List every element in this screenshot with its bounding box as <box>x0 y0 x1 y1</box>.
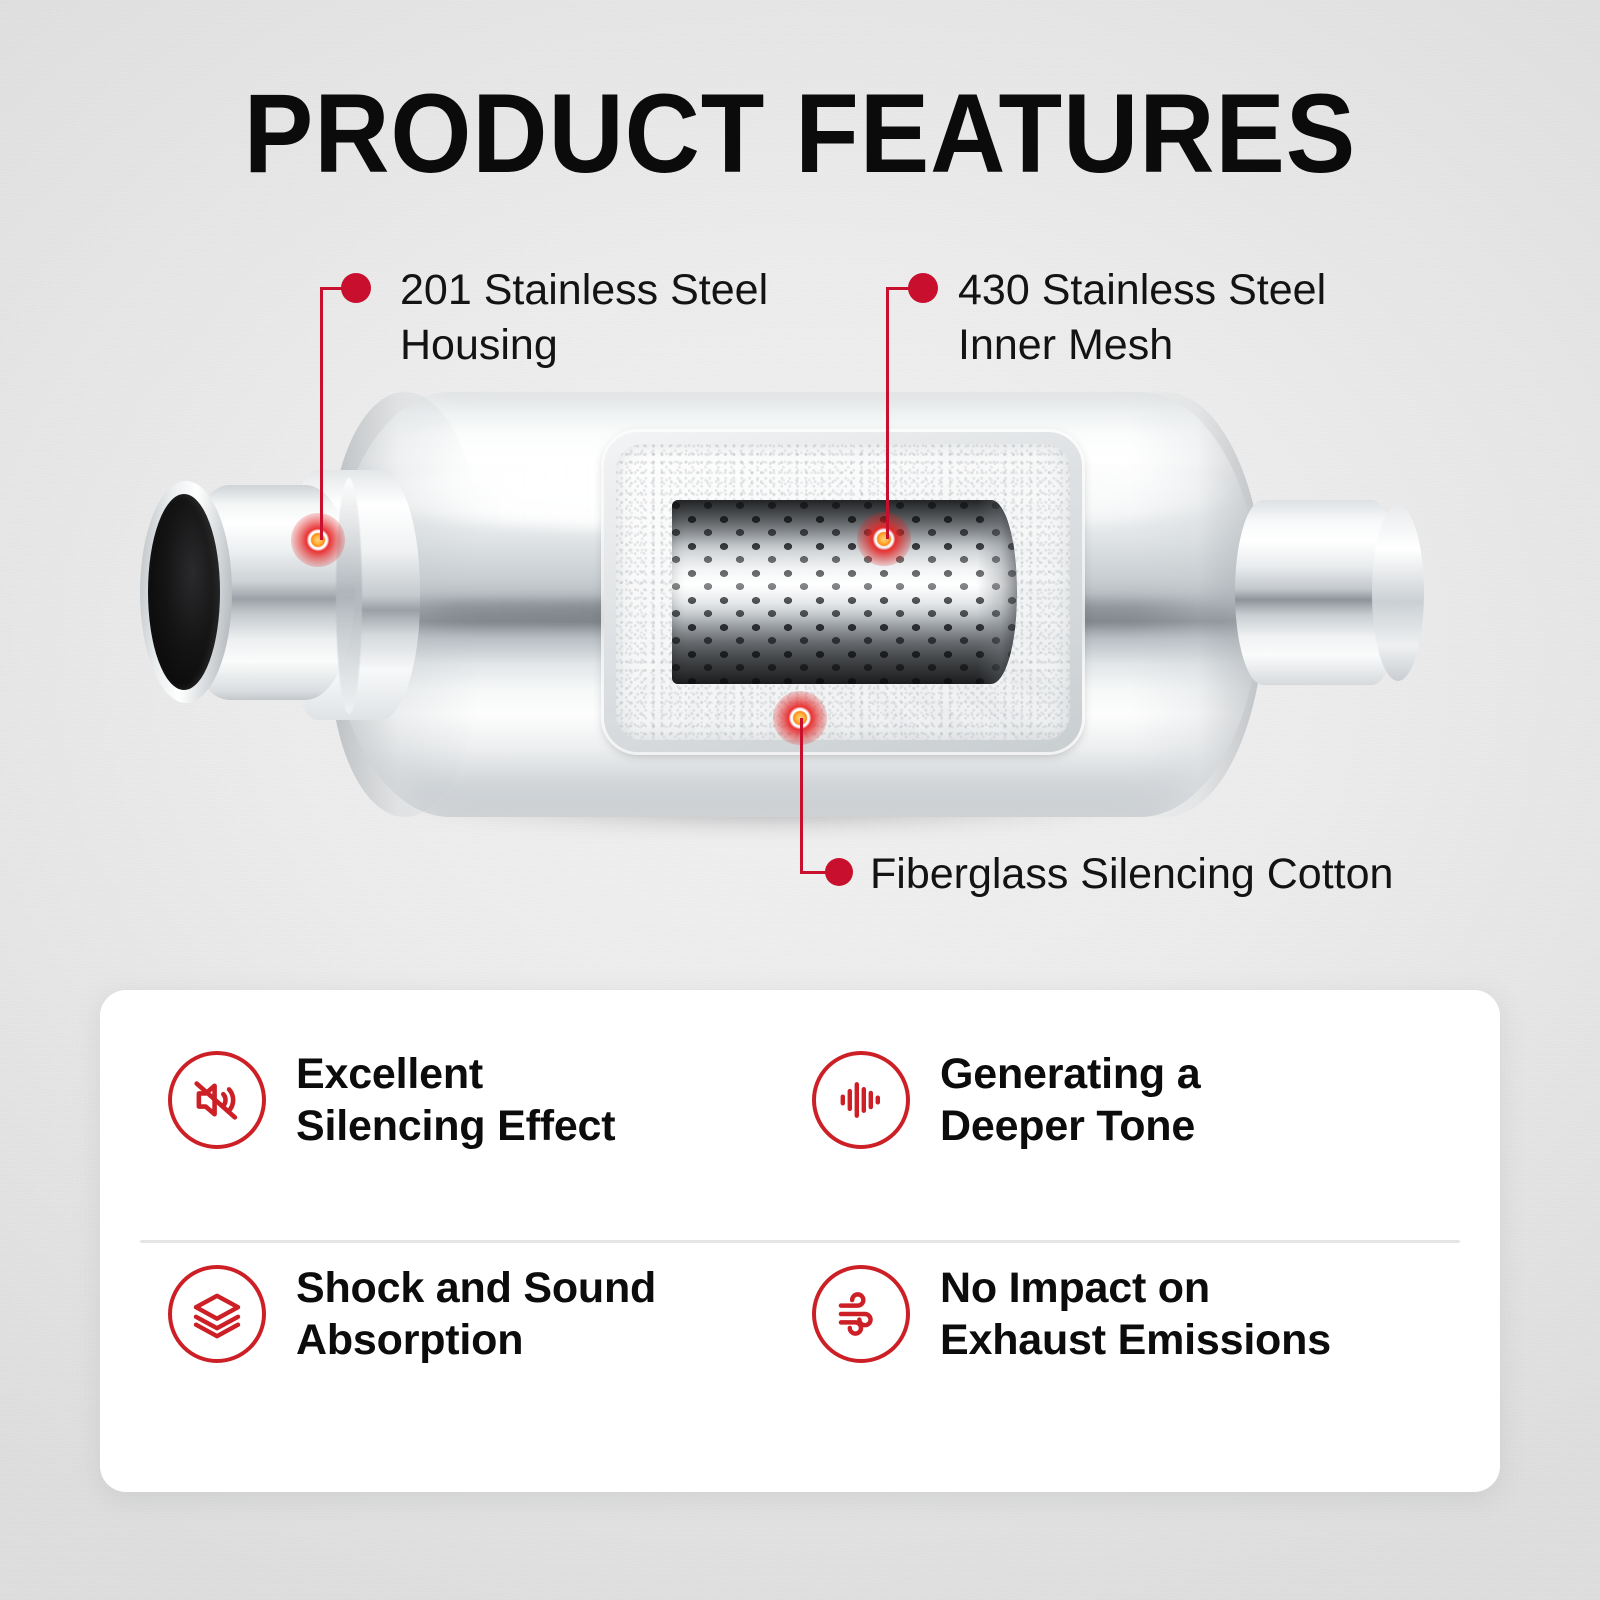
inlet-collar-ring <box>336 478 362 714</box>
feature-label-emissions: No Impact on Exhaust Emissions <box>940 1262 1331 1367</box>
hotspot-inner-mesh <box>857 512 911 566</box>
callout-label-housing: 201 Stainless Steel Housing <box>400 263 870 373</box>
features-card: Excellent Silencing Effect Generating a … <box>100 990 1500 1492</box>
mesh-tube-shading <box>672 500 1017 684</box>
layers-icon <box>168 1265 266 1363</box>
sound-wave-icon <box>812 1051 910 1149</box>
card-divider <box>140 1240 1460 1243</box>
callout-label-silencing-cotton: Fiberglass Silencing Cotton <box>870 847 1510 902</box>
outlet-pipe-end <box>1372 505 1424 681</box>
marker-dot-housing <box>341 273 371 303</box>
callout-label-inner-mesh: 430 Stainless Steel Inner Mesh <box>958 263 1428 373</box>
feature-item-deeper-tone: Generating a Deeper Tone <box>812 1048 1452 1153</box>
perforated-inner-mesh-tube <box>672 500 1017 684</box>
leader-line-cotton-vertical <box>800 718 803 873</box>
feature-label-deeper-tone: Generating a Deeper Tone <box>940 1048 1200 1153</box>
leader-line-mesh-vertical <box>886 287 889 539</box>
wind-airflow-icon <box>812 1265 910 1363</box>
marker-dot-silencing-cotton <box>825 858 853 886</box>
inlet-pipe-opening <box>148 494 220 690</box>
feature-item-emissions: No Impact on Exhaust Emissions <box>812 1262 1472 1367</box>
product-features-infographic: PRODUCT FEATURES 201 Stainless S <box>0 0 1600 1600</box>
hotspot-housing <box>291 513 345 567</box>
marker-dot-inner-mesh <box>908 273 938 303</box>
feature-label-absorption: Shock and Sound Absorption <box>296 1262 656 1367</box>
speaker-mute-icon <box>168 1051 266 1149</box>
feature-item-absorption: Shock and Sound Absorption <box>168 1262 808 1367</box>
feature-label-silencing: Excellent Silencing Effect <box>296 1048 615 1153</box>
leader-line-housing-vertical <box>320 287 323 540</box>
feature-item-silencing: Excellent Silencing Effect <box>168 1048 778 1153</box>
